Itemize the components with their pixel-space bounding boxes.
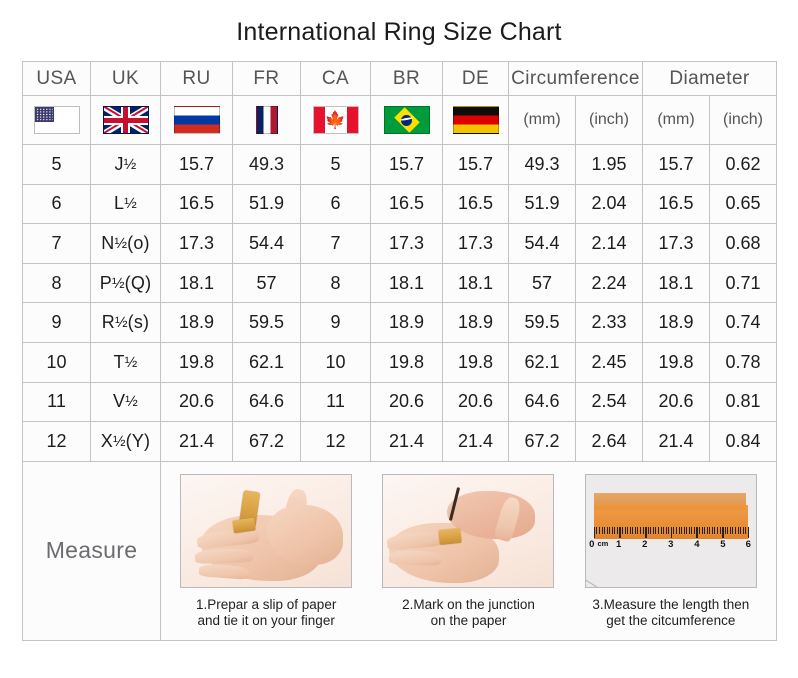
cell-ru: 20.6 bbox=[161, 382, 233, 422]
cell-ca: 5 bbox=[301, 145, 371, 185]
cell-usa: 9 bbox=[23, 303, 91, 343]
cell-ru: 19.8 bbox=[161, 342, 233, 382]
cell-br: 21.4 bbox=[371, 422, 443, 462]
ruler-tick bbox=[630, 527, 631, 534]
measure-section: Measure bbox=[23, 461, 777, 640]
cell-fr: 67.2 bbox=[233, 422, 301, 462]
header-row-flags: 🍁 (mm) (inch) (mm) (inch) bbox=[23, 96, 777, 145]
cell-fr: 51.9 bbox=[233, 184, 301, 224]
cell-fr: 54.4 bbox=[233, 224, 301, 264]
cell-ru: 18.9 bbox=[161, 303, 233, 343]
cell-circ-in: 2.54 bbox=[576, 382, 643, 422]
table-row: 7N½(o)17.354.4717.317.354.42.1417.30.68 bbox=[23, 224, 777, 264]
cell-ru: 16.5 bbox=[161, 184, 233, 224]
ruler-tick bbox=[686, 527, 687, 534]
ruler-tick bbox=[712, 527, 713, 534]
step-1-caption: 1.Prepar a slip of paper and tie it on y… bbox=[169, 597, 364, 630]
cell-ca: 9 bbox=[301, 303, 371, 343]
ruler-tick bbox=[640, 527, 641, 534]
flag-cell-usa bbox=[23, 96, 91, 145]
cell-ru: 18.1 bbox=[161, 263, 233, 303]
cell-dia-mm: 18.9 bbox=[643, 303, 710, 343]
col-header-uk: UK bbox=[91, 62, 161, 96]
measure-label: Measure bbox=[23, 461, 161, 640]
measure-steps-cell: 1.Prepar a slip of paper and tie it on y… bbox=[161, 461, 777, 640]
cell-dia-mm: 15.7 bbox=[643, 145, 710, 185]
flag-cell-ru bbox=[161, 96, 233, 145]
ruler-tick bbox=[720, 527, 721, 534]
cell-dia-in: 0.78 bbox=[710, 342, 777, 382]
ruler-label: 6 bbox=[746, 539, 751, 550]
unit-circumference-mm: (mm) bbox=[509, 96, 576, 145]
cell-ru: 17.3 bbox=[161, 224, 233, 264]
measure-steps: 1.Prepar a slip of paper and tie it on y… bbox=[165, 474, 772, 630]
cell-de: 16.5 bbox=[443, 184, 509, 224]
cell-uk: V½ bbox=[91, 382, 161, 422]
step-1-image bbox=[180, 474, 352, 588]
cell-de: 20.6 bbox=[443, 382, 509, 422]
ruler-tick bbox=[632, 527, 633, 534]
ring-size-chart: USA UK RU FR CA BR DE Circumference Diam… bbox=[22, 61, 776, 641]
cell-br: 18.9 bbox=[371, 303, 443, 343]
cell-br: 16.5 bbox=[371, 184, 443, 224]
cell-br: 19.8 bbox=[371, 342, 443, 382]
flag-russia-icon bbox=[174, 106, 220, 134]
table-row: 5J½15.749.3515.715.749.31.9515.70.62 bbox=[23, 145, 777, 185]
ruler-tick bbox=[702, 527, 703, 534]
cell-uk: P½(Q) bbox=[91, 263, 161, 303]
col-header-fr: FR bbox=[233, 62, 301, 96]
step-2-caption-line1: 2.Mark on the junction bbox=[371, 597, 566, 613]
flag-germany-icon bbox=[453, 106, 499, 134]
step-1: 1.Prepar a slip of paper and tie it on y… bbox=[169, 474, 364, 630]
ruler-tick bbox=[645, 527, 646, 538]
cell-circ-in: 1.95 bbox=[576, 145, 643, 185]
cell-ca: 11 bbox=[301, 382, 371, 422]
ring-size-table: USA UK RU FR CA BR DE Circumference Diam… bbox=[22, 61, 777, 641]
cell-dia-mm: 20.6 bbox=[643, 382, 710, 422]
ruler-tick bbox=[666, 527, 667, 534]
ruler-tick bbox=[612, 527, 613, 534]
cell-de: 21.4 bbox=[443, 422, 509, 462]
ruler-tick bbox=[671, 527, 672, 538]
ruler-tick bbox=[653, 527, 654, 534]
cell-br: 20.6 bbox=[371, 382, 443, 422]
table-header: USA UK RU FR CA BR DE Circumference Diam… bbox=[23, 62, 777, 145]
ruler-label: 4 bbox=[694, 539, 699, 550]
cell-ca: 7 bbox=[301, 224, 371, 264]
ruler-tick bbox=[658, 527, 659, 534]
col-header-usa: USA bbox=[23, 62, 91, 96]
cell-uk: J½ bbox=[91, 145, 161, 185]
flag-cell-br bbox=[371, 96, 443, 145]
cell-circ-in: 2.24 bbox=[576, 263, 643, 303]
cell-uk: T½ bbox=[91, 342, 161, 382]
ruler-tick bbox=[704, 527, 705, 534]
cell-ru: 15.7 bbox=[161, 145, 233, 185]
step-3: 0cm123456 3.Measure the length then get … bbox=[573, 474, 768, 630]
cell-de: 15.7 bbox=[443, 145, 509, 185]
cell-dia-in: 0.65 bbox=[710, 184, 777, 224]
ruler-tick bbox=[743, 527, 744, 534]
flag-uk-icon bbox=[103, 106, 149, 134]
cell-circ-mm: 62.1 bbox=[509, 342, 576, 382]
ruler-tick bbox=[730, 527, 731, 534]
step-3-caption-line2: get the citcumference bbox=[573, 613, 768, 629]
ruler-tick bbox=[619, 527, 620, 538]
ruler-tick bbox=[740, 527, 741, 534]
ruler-tick bbox=[655, 527, 656, 534]
step-2: 2.Mark on the junction on the paper bbox=[371, 474, 566, 630]
ruler-tick bbox=[635, 527, 636, 534]
cell-de: 17.3 bbox=[443, 224, 509, 264]
ruler-label: 3 bbox=[668, 539, 673, 550]
ruler-tick bbox=[648, 527, 649, 534]
cell-ca: 6 bbox=[301, 184, 371, 224]
ruler-tick bbox=[604, 527, 605, 534]
cell-usa: 12 bbox=[23, 422, 91, 462]
ruler-tick bbox=[684, 527, 685, 534]
ruler-tick bbox=[627, 527, 628, 534]
ruler-tick bbox=[696, 527, 697, 538]
cell-de: 18.1 bbox=[443, 263, 509, 303]
step-2-caption-line2: on the paper bbox=[371, 613, 566, 629]
table-row: 6L½16.551.9616.516.551.92.0416.50.65 bbox=[23, 184, 777, 224]
ruler-tick bbox=[663, 527, 664, 534]
cell-circ-in: 2.45 bbox=[576, 342, 643, 382]
cell-dia-mm: 18.1 bbox=[643, 263, 710, 303]
ruler-tick bbox=[661, 527, 662, 534]
ruler-tick bbox=[681, 527, 682, 534]
ruler-tick bbox=[594, 527, 595, 538]
ruler-tick bbox=[609, 527, 610, 534]
ruler-label: 2 bbox=[642, 539, 647, 550]
flag-cell-fr bbox=[233, 96, 301, 145]
ruler-tick bbox=[707, 527, 708, 534]
table-row: 11V½20.664.61120.620.664.62.5420.60.81 bbox=[23, 382, 777, 422]
cell-circ-mm: 59.5 bbox=[509, 303, 576, 343]
cell-dia-in: 0.71 bbox=[710, 263, 777, 303]
cell-circ-in: 2.64 bbox=[576, 422, 643, 462]
cell-usa: 8 bbox=[23, 263, 91, 303]
step-1-caption-line1: 1.Prepar a slip of paper bbox=[169, 597, 364, 613]
table-body: 5J½15.749.3515.715.749.31.9515.70.626L½1… bbox=[23, 145, 777, 462]
cell-ca: 8 bbox=[301, 263, 371, 303]
ruler-tick bbox=[679, 527, 680, 534]
cell-dia-mm: 21.4 bbox=[643, 422, 710, 462]
cell-br: 18.1 bbox=[371, 263, 443, 303]
step-1-caption-line2: and tie it on your finger bbox=[169, 613, 364, 629]
cell-circ-mm: 54.4 bbox=[509, 224, 576, 264]
cell-de: 19.8 bbox=[443, 342, 509, 382]
flag-brazil-icon bbox=[384, 106, 430, 134]
ruler-tick bbox=[694, 527, 695, 534]
step-3-image: 0cm123456 bbox=[585, 474, 757, 588]
cell-fr: 49.3 bbox=[233, 145, 301, 185]
flag-cell-de bbox=[443, 96, 509, 145]
cell-circ-mm: 51.9 bbox=[509, 184, 576, 224]
ruler-tick bbox=[596, 527, 597, 534]
ruler-tick bbox=[625, 527, 626, 534]
cell-dia-in: 0.74 bbox=[710, 303, 777, 343]
cell-fr: 62.1 bbox=[233, 342, 301, 382]
cell-usa: 11 bbox=[23, 382, 91, 422]
ruler-tick bbox=[599, 527, 600, 534]
cell-uk: X½(Y) bbox=[91, 422, 161, 462]
flag-cell-uk bbox=[91, 96, 161, 145]
ruler-tick bbox=[748, 527, 749, 538]
cell-fr: 59.5 bbox=[233, 303, 301, 343]
ruler-tick bbox=[607, 527, 608, 534]
unit-circumference-inch: (inch) bbox=[576, 96, 643, 145]
cell-de: 18.9 bbox=[443, 303, 509, 343]
ruler-tick bbox=[643, 527, 644, 534]
cell-circ-mm: 67.2 bbox=[509, 422, 576, 462]
ruler-tick bbox=[689, 527, 690, 534]
cell-circ-mm: 49.3 bbox=[509, 145, 576, 185]
ruler-tick bbox=[699, 527, 700, 534]
col-header-diameter: Diameter bbox=[643, 62, 777, 96]
header-row-labels: USA UK RU FR CA BR DE Circumference Diam… bbox=[23, 62, 777, 96]
cell-uk: R½(s) bbox=[91, 303, 161, 343]
ruler-tick bbox=[745, 527, 746, 534]
cell-dia-mm: 17.3 bbox=[643, 224, 710, 264]
step-2-image bbox=[382, 474, 554, 588]
flag-cell-ca: 🍁 bbox=[301, 96, 371, 145]
col-header-circumference: Circumference bbox=[509, 62, 643, 96]
cell-uk: L½ bbox=[91, 184, 161, 224]
ruler-tick bbox=[725, 527, 726, 534]
unit-diameter-inch: (inch) bbox=[710, 96, 777, 145]
flag-canada-icon: 🍁 bbox=[313, 106, 359, 134]
cell-dia-in: 0.68 bbox=[710, 224, 777, 264]
ruler-label: 0 bbox=[589, 539, 594, 550]
ruler-tick bbox=[673, 527, 674, 534]
ruler-tick bbox=[622, 527, 623, 534]
cell-circ-mm: 64.6 bbox=[509, 382, 576, 422]
flag-usa-icon bbox=[34, 106, 80, 134]
cell-ca: 12 bbox=[301, 422, 371, 462]
step-3-caption: 3.Measure the length then get the citcum… bbox=[573, 597, 768, 630]
ruler-tick bbox=[617, 527, 618, 534]
cell-dia-in: 0.81 bbox=[710, 382, 777, 422]
step-2-caption: 2.Mark on the junction on the paper bbox=[371, 597, 566, 630]
ruler-label: 5 bbox=[720, 539, 725, 550]
col-header-ca: CA bbox=[301, 62, 371, 96]
cell-br: 17.3 bbox=[371, 224, 443, 264]
cell-usa: 7 bbox=[23, 224, 91, 264]
cell-circ-mm: 57 bbox=[509, 263, 576, 303]
cell-circ-in: 2.33 bbox=[576, 303, 643, 343]
ruler-tick bbox=[717, 527, 718, 534]
ruler-label: 1 bbox=[616, 539, 621, 550]
ruler-tick bbox=[709, 527, 710, 534]
ruler-tick bbox=[732, 527, 733, 534]
ruler-tick bbox=[668, 527, 669, 534]
ruler-tick bbox=[650, 527, 651, 534]
col-header-ru: RU bbox=[161, 62, 233, 96]
cell-dia-in: 0.84 bbox=[710, 422, 777, 462]
cell-ca: 10 bbox=[301, 342, 371, 382]
cell-dia-in: 0.62 bbox=[710, 145, 777, 185]
table-row: 10T½19.862.11019.819.862.12.4519.80.78 bbox=[23, 342, 777, 382]
ruler-tick bbox=[602, 527, 603, 534]
cell-usa: 6 bbox=[23, 184, 91, 224]
step-3-caption-line1: 3.Measure the length then bbox=[573, 597, 768, 613]
flag-france-icon bbox=[256, 106, 278, 134]
ruler-tick bbox=[614, 527, 615, 534]
cell-fr: 57 bbox=[233, 263, 301, 303]
ruler-tick bbox=[738, 527, 739, 534]
cell-dia-mm: 16.5 bbox=[643, 184, 710, 224]
ruler-tick bbox=[722, 527, 723, 538]
ruler-tick bbox=[735, 527, 736, 534]
ruler-tick bbox=[727, 527, 728, 534]
cell-usa: 10 bbox=[23, 342, 91, 382]
cell-dia-mm: 19.8 bbox=[643, 342, 710, 382]
cell-uk: N½(o) bbox=[91, 224, 161, 264]
unit-diameter-mm: (mm) bbox=[643, 96, 710, 145]
cell-circ-in: 2.14 bbox=[576, 224, 643, 264]
measure-row: Measure bbox=[23, 461, 777, 640]
ruler-tick bbox=[676, 527, 677, 534]
ruler-tick bbox=[691, 527, 692, 534]
col-header-br: BR bbox=[371, 62, 443, 96]
col-header-de: DE bbox=[443, 62, 509, 96]
cell-circ-in: 2.04 bbox=[576, 184, 643, 224]
ruler-tick bbox=[637, 527, 638, 534]
table-row: 12X½(Y)21.467.21221.421.467.22.6421.40.8… bbox=[23, 422, 777, 462]
cell-fr: 64.6 bbox=[233, 382, 301, 422]
cell-br: 15.7 bbox=[371, 145, 443, 185]
table-row: 8P½(Q)18.157818.118.1572.2418.10.71 bbox=[23, 263, 777, 303]
ruler-tick bbox=[714, 527, 715, 534]
ruler-label: cm bbox=[597, 539, 608, 548]
table-row: 9R½(s)18.959.5918.918.959.52.3318.90.74 bbox=[23, 303, 777, 343]
cell-usa: 5 bbox=[23, 145, 91, 185]
cell-ru: 21.4 bbox=[161, 422, 233, 462]
page-title: International Ring Size Chart bbox=[0, 0, 798, 61]
